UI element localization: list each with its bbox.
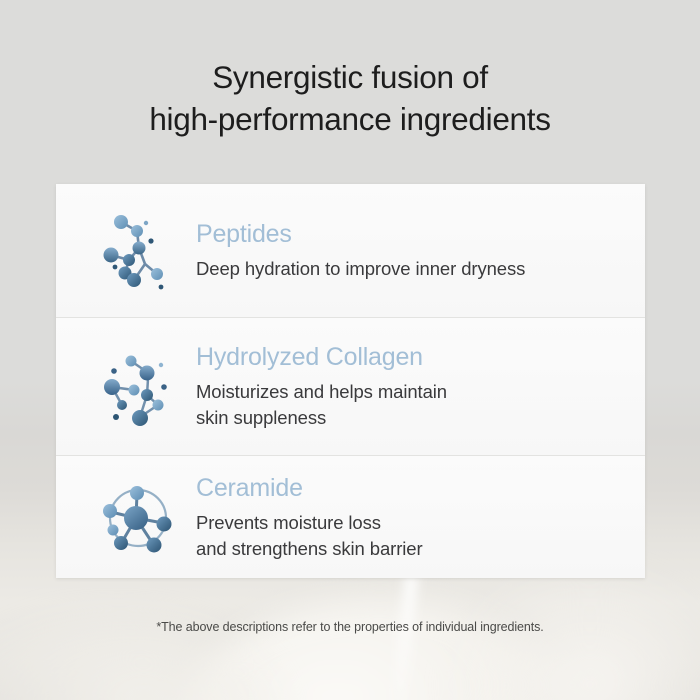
- ingredient-text-peptides: Peptides Deep hydration to improve inner…: [186, 219, 645, 282]
- ingredient-title: Peptides: [196, 219, 645, 249]
- ingredient-card-ceramide: Ceramide Prevents moisture loss and stre…: [56, 455, 645, 578]
- ingredient-description-line-2: skin suppleness: [196, 405, 645, 431]
- ingredient-description: Deep hydration to improve inner dryness: [196, 256, 645, 282]
- ingredient-description-line-1: Moisturizes and helps maintain: [196, 379, 645, 405]
- ingredient-description: Prevents moisture loss and strengthens s…: [196, 510, 645, 562]
- page-title: Synergistic fusion of high-performance i…: [0, 56, 700, 140]
- ingredient-description-line-1: Deep hydration to improve inner dryness: [196, 256, 645, 282]
- ingredient-card-hydrolyzed-collagen: Hydrolyzed Collagen Moisturizes and help…: [56, 317, 645, 455]
- headline-line-2: high-performance ingredients: [0, 98, 700, 140]
- ingredient-card-peptides: Peptides Deep hydration to improve inner…: [56, 184, 645, 317]
- ingredient-description: Moisturizes and helps maintain skin supp…: [196, 379, 645, 431]
- background-cream-highlight: [391, 575, 419, 700]
- ingredient-text-hydrolyzed-collagen: Hydrolyzed Collagen Moisturizes and help…: [186, 342, 645, 431]
- ingredient-list: Peptides Deep hydration to improve inner…: [56, 184, 645, 578]
- infographic-page: Synergistic fusion of high-performance i…: [0, 0, 700, 700]
- ingredient-title: Ceramide: [196, 473, 645, 503]
- footnote-disclaimer: *The above descriptions refer to the pro…: [0, 620, 700, 634]
- background-cream-blob: [170, 600, 590, 700]
- headline-line-1: Synergistic fusion of: [212, 59, 488, 95]
- ingredient-title: Hydrolyzed Collagen: [196, 342, 645, 372]
- peptide-chain-molecule-icon: [90, 210, 186, 292]
- ingredient-description-line-1: Prevents moisture loss: [196, 510, 645, 536]
- ceramide-ring-molecule-icon: [90, 476, 186, 558]
- ingredient-text-ceramide: Ceramide Prevents moisture loss and stre…: [186, 473, 645, 562]
- collagen-fragment-molecule-icon: [90, 345, 186, 429]
- ingredient-description-line-2: and strengthens skin barrier: [196, 536, 645, 562]
